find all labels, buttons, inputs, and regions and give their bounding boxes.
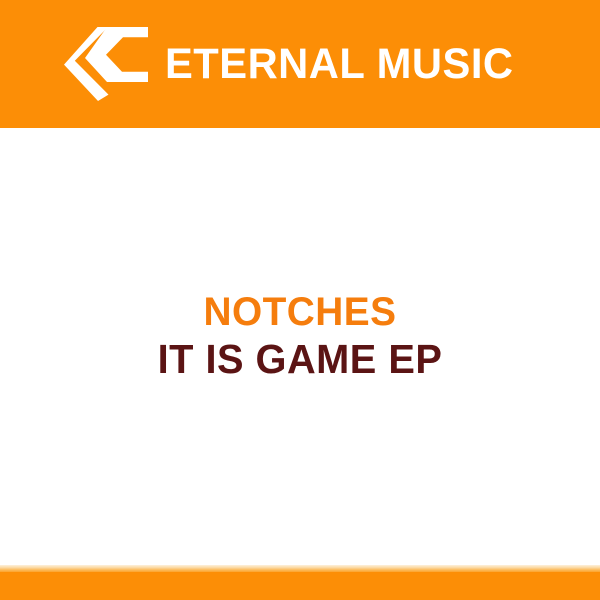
artist-name: NOTCHES	[9, 291, 591, 333]
double-chevron-left-logo-mark-icon	[64, 27, 148, 101]
release-title: IT IS GAME EP	[9, 336, 591, 382]
label-wordmark: ETERNAL MUSIC	[165, 43, 514, 86]
release-credits: NOTCHES IT IS GAME EP	[0, 291, 600, 382]
footer-highlight-line	[0, 565, 600, 572]
label-header-band: ETERNAL MUSIC	[0, 0, 600, 128]
album-cover-artwork: ETERNAL MUSIC NOTCHES IT IS GAME EP	[0, 0, 600, 600]
label-brand-lockup: ETERNAL MUSIC	[64, 27, 524, 101]
footer-band	[0, 572, 600, 600]
